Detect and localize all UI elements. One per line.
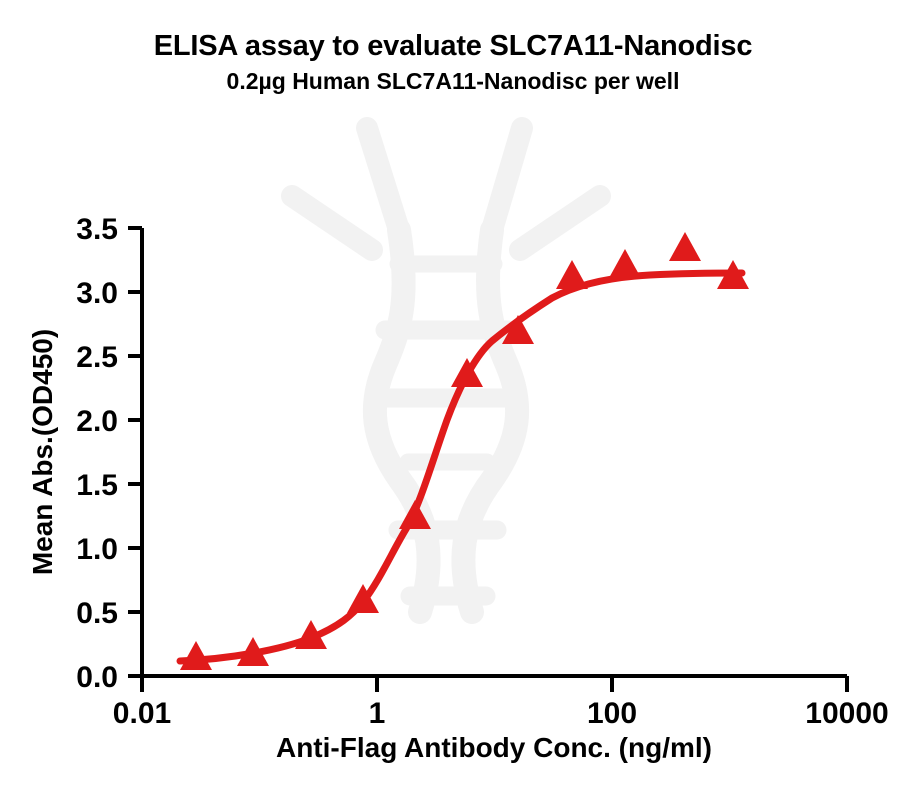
data-point	[669, 232, 701, 261]
y-tick-label-2.5: 2.5	[76, 341, 118, 374]
x-tick-label-1: 1	[369, 697, 386, 730]
y-tick-label-3.5: 3.5	[76, 213, 118, 246]
data-point	[556, 260, 588, 289]
x-tick-label-0.01: 0.01	[113, 697, 171, 730]
x-axis-title: Anti-Flag Antibody Conc. (ng/ml)	[276, 732, 712, 763]
x-tick-label-100: 100	[587, 697, 637, 730]
y-tick-label-0.5: 0.5	[76, 597, 118, 630]
y-tick-label-3.0: 3.0	[76, 277, 118, 310]
x-tick-label-10000: 10000	[805, 697, 888, 730]
plot-area: 3.5 3.0 2.5 2.0 1.5 1.0 0.5 0.0 0.01 1 1…	[0, 0, 906, 800]
y-axis-title: Mean Abs.(OD450)	[27, 329, 58, 575]
data-point	[180, 641, 212, 670]
y-tick-label-2.0: 2.0	[76, 405, 118, 438]
x-axis-ticks	[142, 676, 847, 692]
data-point	[609, 249, 641, 278]
y-tick-label-0.0: 0.0	[76, 661, 118, 694]
y-tick-label-1.5: 1.5	[76, 469, 118, 502]
y-tick-label-1.0: 1.0	[76, 533, 118, 566]
dna-watermark	[292, 128, 600, 612]
y-axis-ticks	[128, 228, 142, 676]
elisa-chart-figure: ELISA assay to evaluate SLC7A11-Nanodisc…	[0, 0, 906, 800]
